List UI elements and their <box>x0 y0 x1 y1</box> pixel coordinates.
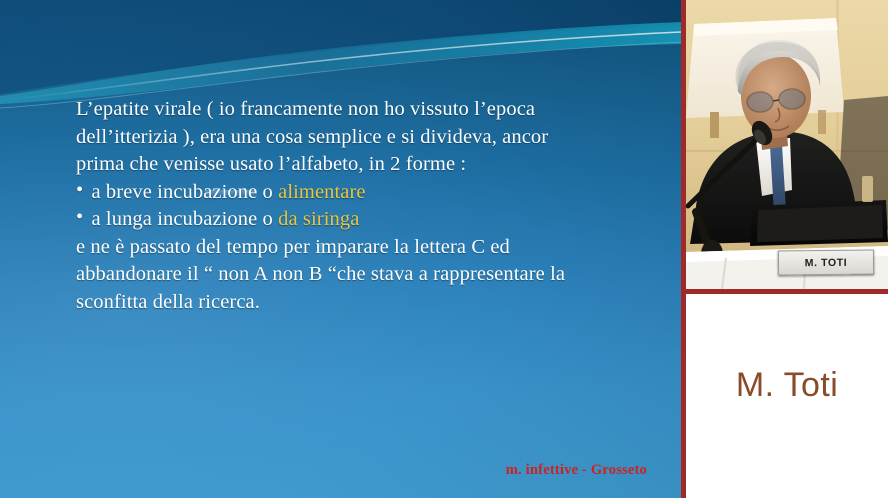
slide-line: dell’itterizia ), era una cosa semplice … <box>76 124 666 152</box>
slide-canvas: L’epatite virale ( io francamente non ho… <box>0 0 681 498</box>
presentation-viewer: L’epatite virale ( io francamente non ho… <box>0 0 888 498</box>
slide-text-block: L’epatite virale ( io francamente non ho… <box>76 96 666 316</box>
nameplate-label: M. TOTI <box>805 256 848 268</box>
slide-line: L’epatite virale ( io francamente non ho… <box>76 96 666 124</box>
video-scene: M. TOTI <box>686 0 888 289</box>
slide-line: prima che venisse usato l’alfabeto, in 2… <box>76 151 666 179</box>
video-scene-svg <box>686 0 888 289</box>
slide-bullet-line: • a lunga incubazione o da siringa <box>76 206 666 234</box>
slide-line: sconfitta della ricerca. <box>76 289 666 317</box>
slide-bullet-line: • a breve incubazione o alimentare <box>76 179 666 207</box>
highlighted-term: da siringa <box>278 208 359 230</box>
bullet-icon: • <box>76 177 83 205</box>
wave-highlight-line <box>0 32 681 100</box>
slide-line: abbandonare il “ non A non B “che stava … <box>76 261 666 289</box>
speaker-name: M. Toti <box>686 366 888 405</box>
bullet-icon: • <box>76 204 83 232</box>
slide-line: e ne è passato del tempo per imparare la… <box>76 234 666 262</box>
wave-band-dark <box>0 0 681 94</box>
speaker-nameplate: M. TOTI <box>778 249 874 275</box>
wave-band-cyan <box>0 22 681 104</box>
speaker-video[interactable]: M. TOTI <box>681 0 888 294</box>
speaker-column: M. TOTI M. Toti <box>681 0 888 498</box>
slide-footer: m. infettive - Grosseto <box>0 462 647 479</box>
bullet-text: a lunga incubazione o <box>86 208 278 230</box>
speaker-name-panel: M. Toti <box>681 294 888 498</box>
bullet-text: a breve incubazione o <box>86 181 278 203</box>
highlighted-term: alimentare <box>278 181 366 203</box>
